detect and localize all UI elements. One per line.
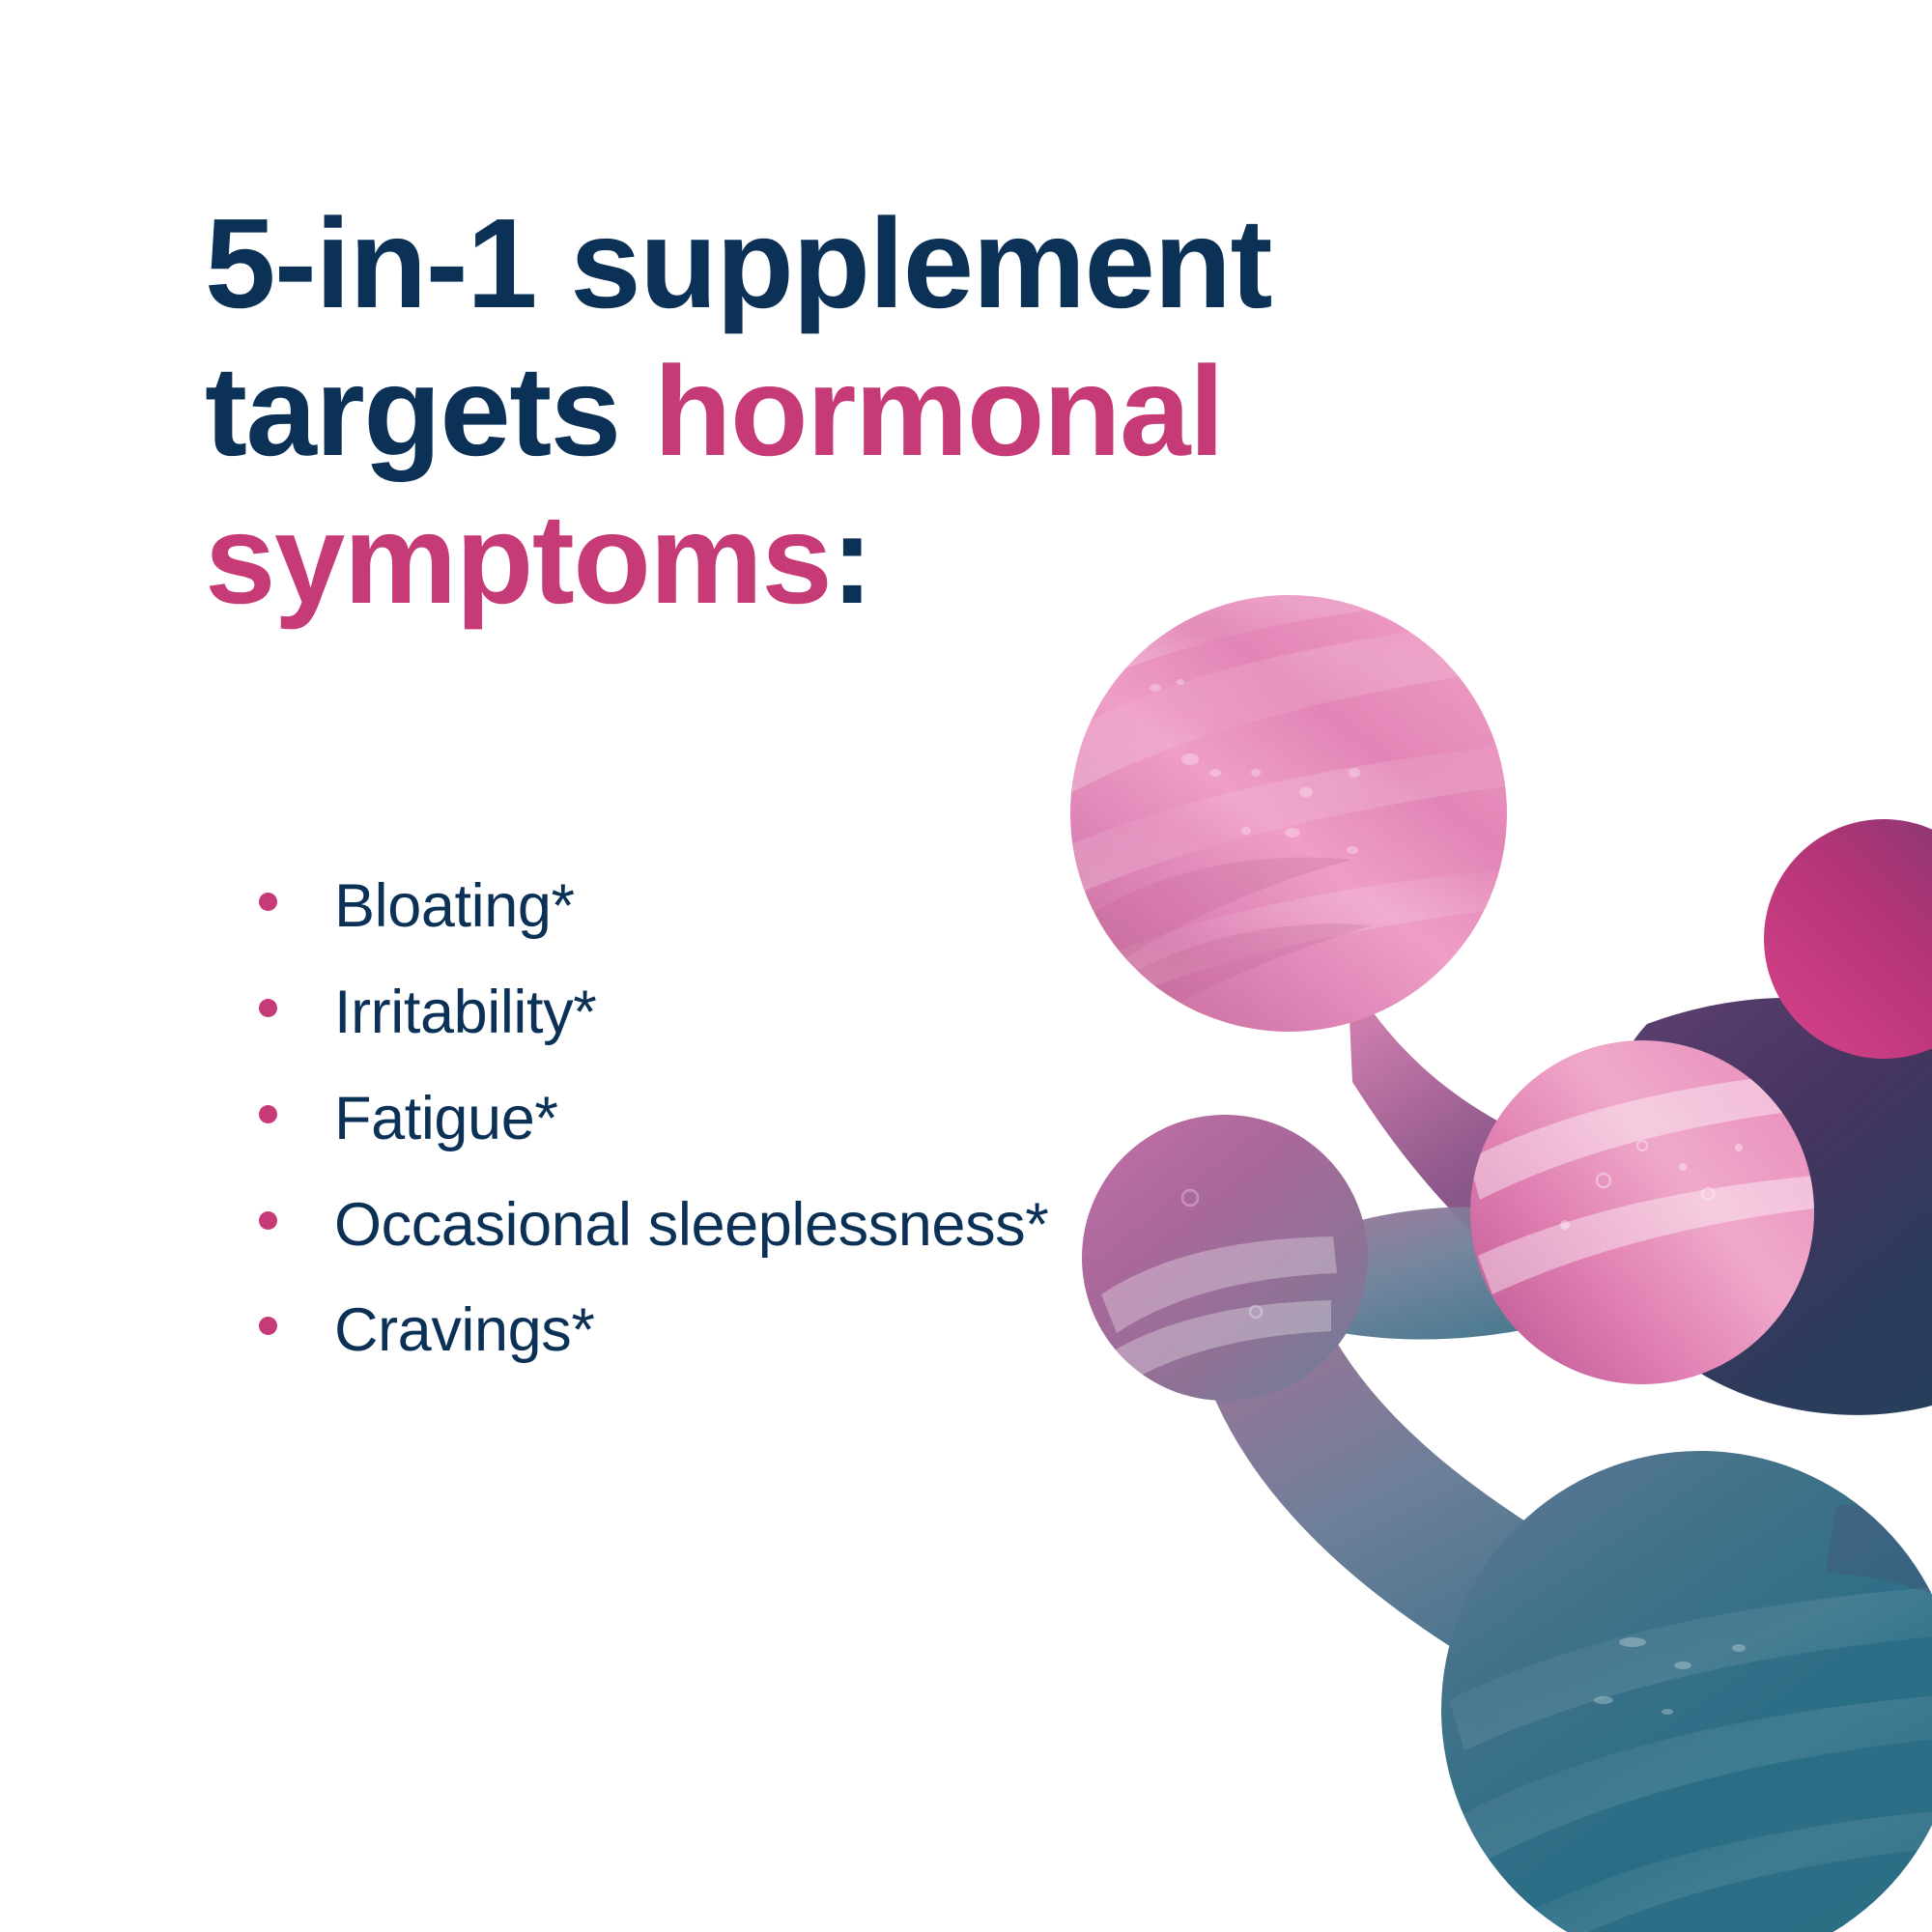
poster-canvas: 5-in-1 supplement targets hormonal sympt… <box>0 0 1932 1932</box>
headline-line-3-pink: symptoms <box>205 488 831 630</box>
molecule-node-magenta <box>1764 819 1932 1059</box>
molecule-dark-mass <box>1598 998 1932 1415</box>
list-item: Irritability* <box>259 976 1476 1050</box>
symptom-list: Bloating* Irritability* Fatigue* Occasio… <box>259 869 1476 1368</box>
bullet-dot-icon <box>259 999 277 1017</box>
headline-line-1: 5-in-1 supplement <box>205 192 1271 334</box>
list-item: Fatigue* <box>259 1082 1476 1156</box>
symptom-label: Irritability* <box>334 976 596 1050</box>
bullet-dot-icon <box>259 893 277 911</box>
list-item: Occasional sleeplessness* <box>259 1188 1476 1263</box>
symptom-label: Fatigue* <box>334 1082 557 1156</box>
list-item: Bloating* <box>259 869 1476 944</box>
symptom-label: Occasional sleeplessness* <box>334 1188 1048 1263</box>
bullet-dot-icon <box>259 1211 277 1230</box>
headline-colon: : <box>831 488 871 630</box>
symptom-label: Bloating* <box>334 869 575 944</box>
molecule-node-teal <box>1441 1451 1932 1932</box>
symptom-label: Cravings* <box>334 1293 595 1368</box>
list-item: Cravings* <box>259 1293 1476 1368</box>
molecule-node-mid-pink <box>1468 1040 1828 1384</box>
bullet-dot-icon <box>259 1317 277 1335</box>
molecule-node-small-gradient <box>1507 1685 1708 1886</box>
headline-line-2-pink: hormonal <box>654 340 1223 482</box>
text-content: 5-in-1 supplement targets hormonal sympt… <box>0 0 1507 1932</box>
headline-line-2-navy: targets <box>205 340 654 482</box>
bullet-dot-icon <box>259 1105 277 1123</box>
page-title: 5-in-1 supplement targets hormonal sympt… <box>205 189 1499 633</box>
